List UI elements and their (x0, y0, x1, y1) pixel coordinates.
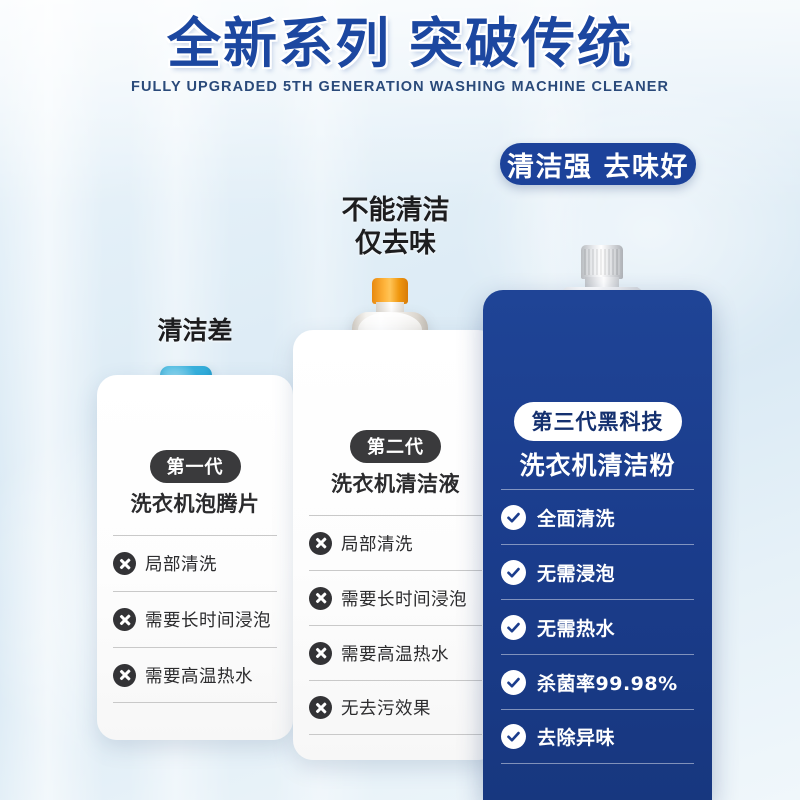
card-2-generation-badge: 第二代 (350, 430, 441, 463)
x-mark-icon (309, 642, 332, 665)
feature-row: 全面清洗 (501, 489, 694, 544)
feature-label: 全面清洗 (537, 504, 615, 531)
feature-row: 无去污效果 (309, 680, 482, 735)
title-part-2: 突破传统 (409, 12, 633, 75)
feature-label: 需要长时间浸泡 (341, 586, 467, 611)
feature-label: 去除异味 (537, 723, 615, 750)
hero-highlight-pill: 清洁强 去味好 (500, 143, 696, 185)
card-2-heading: 不能清洁 仅去味 (293, 195, 498, 261)
comparison-card-generation-1: 第一代 洗衣机泡腾片 局部清洗 需要长时间浸泡 需要高温热水 (97, 375, 293, 740)
card-2-heading-line-1: 不能清洁 (293, 195, 498, 228)
check-mark-icon (501, 670, 526, 695)
card-2-product-name: 洗衣机清洁液 (293, 468, 498, 498)
feature-row: 去除异味 (501, 709, 694, 764)
card-1-generation-badge: 第一代 (150, 450, 241, 483)
feature-label: 局部清洗 (341, 531, 413, 556)
x-mark-icon (309, 532, 332, 555)
card-2-feature-list: 局部清洗 需要长时间浸泡 需要高温热水 无去污效果 (293, 515, 498, 735)
feature-label: 无需浸泡 (537, 559, 615, 586)
feature-label: 局部清洗 (145, 551, 217, 576)
check-mark-icon (501, 505, 526, 530)
comparison-card-generation-2: 第二代 洗衣机清洁液 局部清洗 需要长时间浸泡 需要高温热水 无去污效果 (293, 330, 498, 760)
x-mark-icon (113, 552, 136, 575)
check-mark-icon (501, 615, 526, 640)
x-mark-icon (309, 696, 332, 719)
x-mark-icon (113, 664, 136, 687)
feature-label: 无去污效果 (341, 695, 431, 720)
feature-row: 需要长时间浸泡 (309, 570, 482, 625)
x-mark-icon (113, 608, 136, 631)
page-subtitle: FULLY UPGRADED 5TH GENERATION WASHING MA… (0, 79, 800, 95)
feature-row: 无需浸泡 (501, 544, 694, 599)
feature-label: 需要高温热水 (145, 663, 253, 688)
feature-row: 局部清洗 (113, 535, 277, 591)
feature-label: 需要高温热水 (341, 641, 449, 666)
title-part-1: 全新系列 (167, 12, 391, 75)
feature-row: 无需热水 (501, 599, 694, 654)
feature-label: 杀菌率99.98% (537, 669, 678, 696)
featured-card-generation-3: 第三代黑科技 洗衣机清洁粉 全面清洗 无需浸泡 无需热水 杀菌率99.98% (483, 290, 712, 800)
check-mark-icon (501, 560, 526, 585)
feature-row: 需要高温热水 (309, 625, 482, 680)
hero-generation-badge: 第三代黑科技 (514, 402, 682, 441)
feature-row: 需要长时间浸泡 (113, 591, 277, 647)
feature-row: 杀菌率99.98% (501, 654, 694, 709)
card-2-heading-line-2: 仅去味 (293, 228, 498, 261)
feature-label: 无需热水 (537, 614, 615, 641)
check-mark-icon (501, 724, 526, 749)
page-header: 全新系列突破传统 FULLY UPGRADED 5TH GENERATION W… (0, 14, 800, 95)
card-1-product-name: 洗衣机泡腾片 (97, 488, 293, 518)
x-mark-icon (309, 587, 332, 610)
feature-row: 需要高温热水 (113, 647, 277, 703)
feature-row: 局部清洗 (309, 515, 482, 570)
hero-feature-list: 全面清洗 无需浸泡 无需热水 杀菌率99.98% 去除异味 (483, 489, 712, 764)
hero-product-name: 洗衣机清洁粉 (483, 446, 712, 482)
feature-label: 需要长时间浸泡 (145, 607, 271, 632)
card-1-heading: 清洁差 (97, 316, 293, 347)
page-title: 全新系列突破传统 (0, 14, 800, 73)
card-1-feature-list: 局部清洗 需要长时间浸泡 需要高温热水 (97, 535, 293, 703)
